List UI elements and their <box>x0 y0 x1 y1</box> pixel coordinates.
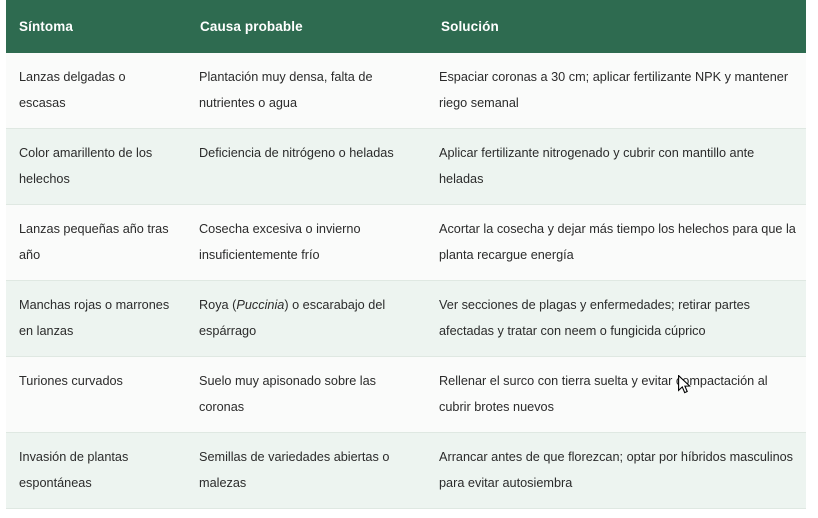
table-row: Color amarillento de los helechos Defici… <box>6 129 806 205</box>
column-header-sintoma: Síntoma <box>6 0 187 53</box>
column-header-solucion: Solución <box>428 0 806 53</box>
causa-prefix: Roya ( <box>199 298 236 312</box>
cell-causa: Suelo muy apisonado sobre las coronas <box>187 357 428 433</box>
cell-solucion: Aplicar fertilizante nitrogenado y cubri… <box>428 129 806 205</box>
table-row: Turiones curvados Suelo muy apisonado so… <box>6 357 806 433</box>
cell-causa: Semillas de variedades abiertas o maleza… <box>187 433 428 509</box>
cell-solucion: Arrancar antes de que florezcan; optar p… <box>428 433 806 509</box>
cell-sintoma: Manchas rojas o marrones en lanzas <box>6 281 187 357</box>
table-row: Lanzas delgadas o escasas Plantación muy… <box>6 53 806 129</box>
cell-solucion: Ver secciones de plagas y enfermedades; … <box>428 281 806 357</box>
cell-causa: Plantación muy densa, falta de nutriente… <box>187 53 428 129</box>
cell-sintoma: Turiones curvados <box>6 357 187 433</box>
cell-sintoma: Invasión de plantas espontáneas <box>6 433 187 509</box>
cell-sintoma: Lanzas pequeñas año tras año <box>6 205 187 281</box>
table-body: Lanzas delgadas o escasas Plantación muy… <box>6 53 806 509</box>
cell-sintoma: Color amarillento de los helechos <box>6 129 187 205</box>
cell-solucion: Rellenar el surco con tierra suelta y ev… <box>428 357 806 433</box>
table-header-row: Síntoma Causa probable Solución <box>6 0 806 53</box>
troubleshooting-table: Síntoma Causa probable Solución Lanzas d… <box>6 0 806 509</box>
cell-causa: Cosecha excesiva o invierno insuficiente… <box>187 205 428 281</box>
cell-solucion: Acortar la cosecha y dejar más tiempo lo… <box>428 205 806 281</box>
table-row: Lanzas pequeñas año tras año Cosecha exc… <box>6 205 806 281</box>
troubleshooting-table-container: Síntoma Causa probable Solución Lanzas d… <box>0 0 818 518</box>
cell-sintoma: Lanzas delgadas o escasas <box>6 53 187 129</box>
table-row: Manchas rojas o marrones en lanzas Roya … <box>6 281 806 357</box>
column-header-causa: Causa probable <box>187 0 428 53</box>
cell-causa: Roya (Puccinia) o escarabajo del espárra… <box>187 281 428 357</box>
cell-causa: Deficiencia de nitrógeno o heladas <box>187 129 428 205</box>
table-header: Síntoma Causa probable Solución <box>6 0 806 53</box>
table-row: Invasión de plantas espontáneas Semillas… <box>6 433 806 509</box>
cell-solucion: Espaciar coronas a 30 cm; aplicar fertil… <box>428 53 806 129</box>
scientific-name: Puccinia <box>236 298 284 312</box>
